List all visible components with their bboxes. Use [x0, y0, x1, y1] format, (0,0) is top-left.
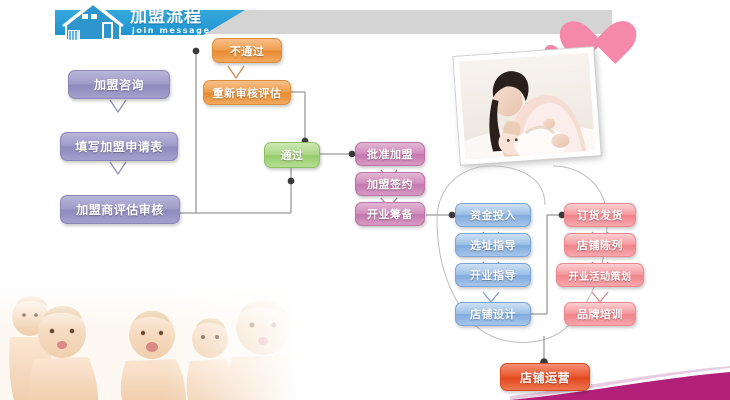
flow-node-fill-application: 填写加盟申请表	[60, 132, 178, 161]
flow-node-franchisee-review: 加盟商评估审核	[60, 195, 180, 224]
node-label: 店铺运营	[520, 369, 570, 386]
flow-node-site-selection: 选址指导	[455, 233, 531, 257]
flow-node-sign-contract: 加盟签约	[355, 172, 425, 196]
node-label: 开业指导	[470, 267, 516, 283]
slide-canvas: 加盟流程 join message	[0, 0, 730, 400]
flow-node-opening-event-planning: 开业活动策划	[556, 263, 644, 287]
node-label: 店铺陈列	[577, 237, 623, 253]
node-label: 店铺设计	[470, 306, 516, 322]
flow-node-opening-guidance: 开业指导	[455, 263, 531, 287]
flow-node-join-consult: 加盟咨询	[68, 70, 170, 99]
flow-node-store-display: 店铺陈列	[564, 233, 636, 257]
flow-node-capital-investment: 资金投入	[455, 203, 531, 227]
node-label: 资金投入	[470, 207, 516, 223]
node-label: 品牌培训	[577, 306, 623, 322]
node-label: 订货发货	[577, 207, 623, 223]
flow-node-re-review: 重新审核评估	[203, 80, 291, 105]
flow-node-not-passed: 不通过	[212, 38, 282, 63]
node-label: 开业筹备	[367, 206, 413, 222]
node-label: 选址指导	[470, 237, 516, 253]
node-label: 重新审核评估	[213, 85, 282, 101]
node-label: 批准加盟	[367, 146, 413, 162]
node-label: 不通过	[230, 43, 265, 59]
flow-node-brand-training: 品牌培训	[564, 302, 636, 326]
node-label: 加盟商评估审核	[76, 201, 164, 218]
flow-node-passed: 通过	[264, 142, 320, 168]
node-label: 开业活动策划	[569, 268, 632, 283]
flow-node-opening-preparation: 开业筹备	[355, 202, 425, 226]
node-label: 加盟咨询	[94, 76, 144, 93]
flow-node-store-design: 店铺设计	[455, 302, 531, 326]
flow-node-store-operation: 店铺运营	[500, 363, 590, 391]
node-label: 填写加盟申请表	[75, 138, 163, 155]
node-label: 通过	[281, 147, 304, 163]
node-label: 加盟签约	[367, 176, 413, 192]
flow-node-order-shipping: 订货发货	[564, 203, 636, 227]
flow-node-approve-join: 批准加盟	[355, 142, 425, 166]
